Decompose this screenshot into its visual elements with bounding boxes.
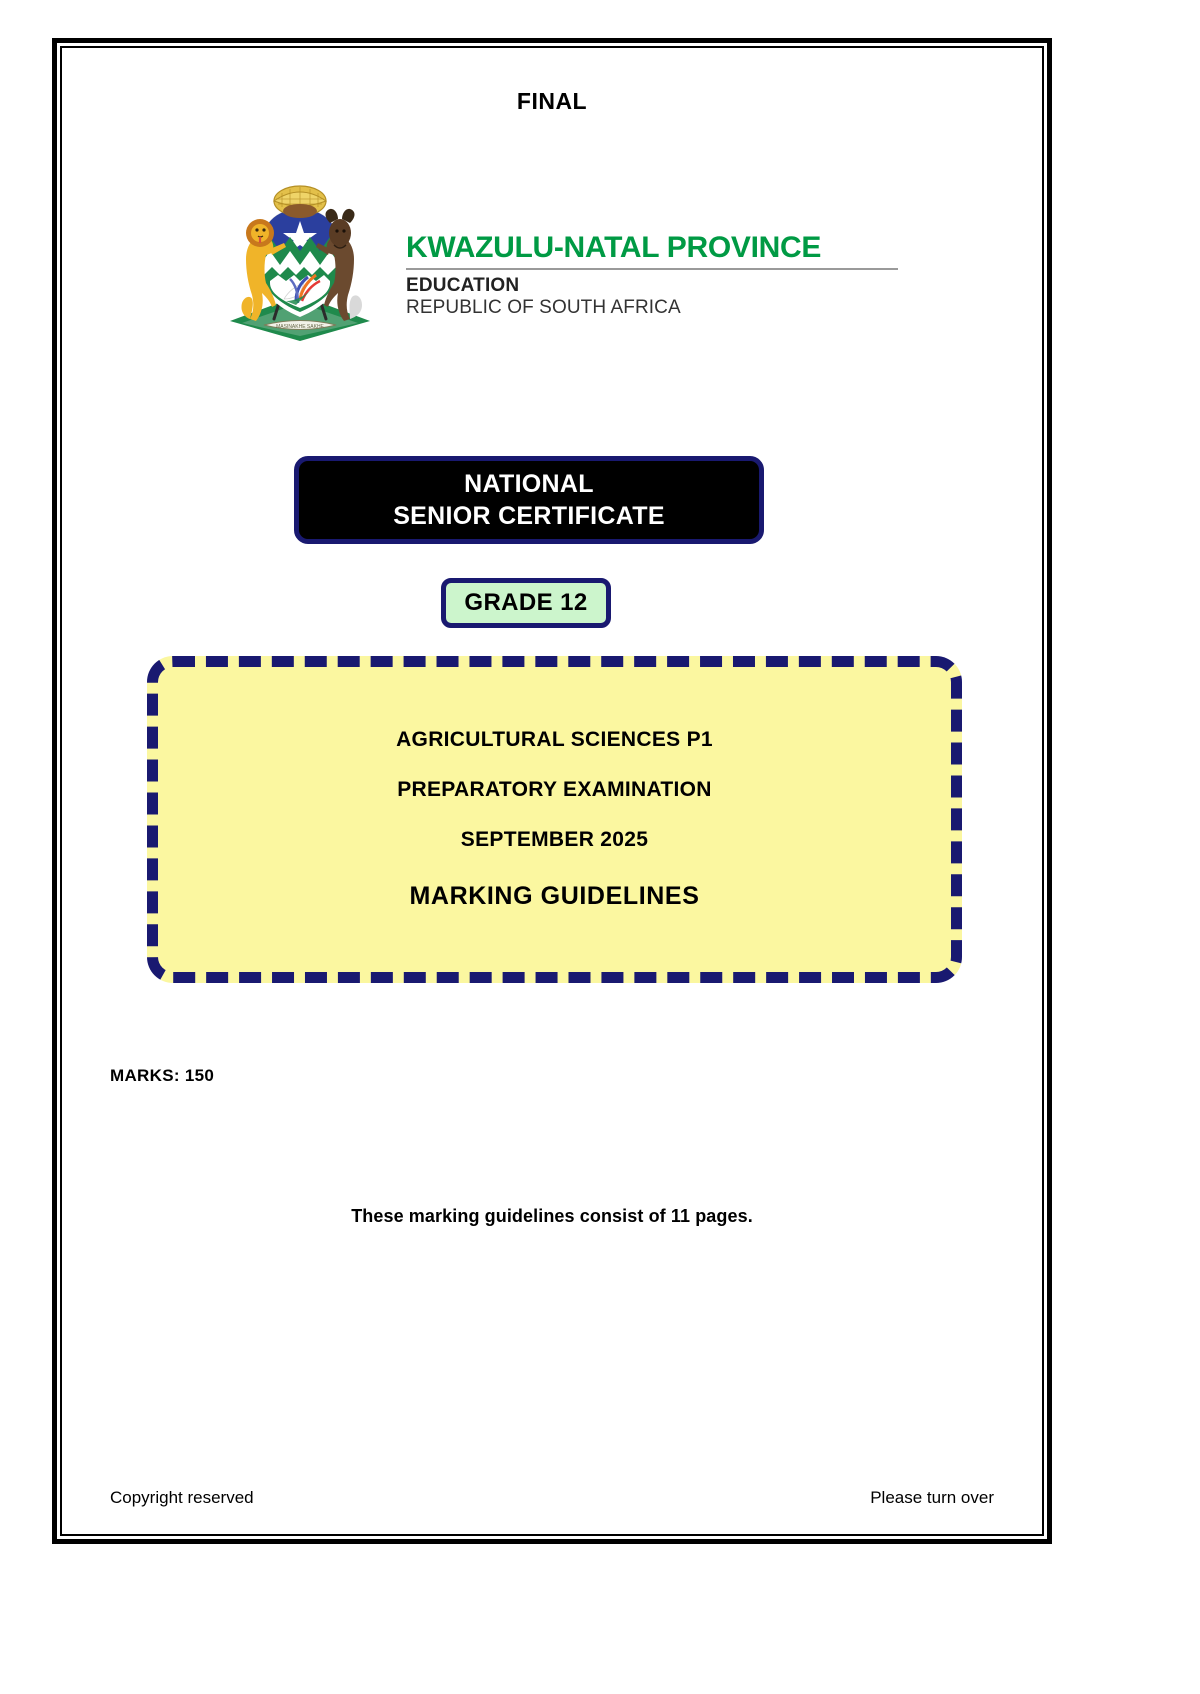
country-name: REPUBLIC OF SOUTH AFRICA [406,297,898,319]
province-name: KWAZULU-NATAL PROVINCE [406,232,898,264]
department-logo-block: MASINAKHE SAKHE [62,166,1042,351]
exam-date: SEPTEMBER 2025 [461,815,648,865]
grade-banner: GRADE 12 [441,578,611,628]
subject-paper: AGRICULTURAL SCIENCES P1 [396,715,713,765]
turn-over-notice: Please turn over [870,1488,994,1508]
document-status-label: FINAL [62,88,1042,115]
certificate-text: NATIONAL SENIOR CERTIFICATE [393,468,665,532]
grade-label: GRADE 12 [464,589,587,617]
document-type: MARKING GUIDELINES [410,865,700,924]
subject-details-box: AGRICULTURAL SCIENCES P1 PREPARATORY EXA… [147,656,962,983]
svg-text:MASINAKHE SAKHE: MASINAKHE SAKHE [276,324,324,330]
page-footer: Copyright reserved Please turn over [110,1488,994,1508]
logo-divider [406,268,898,270]
certificate-line-2: SENIOR CERTIFICATE [393,500,665,532]
logo-text-block: KWAZULU-NATAL PROVINCE EDUCATION REPUBLI… [406,198,898,318]
department-name: EDUCATION [406,275,898,297]
national-senior-certificate-banner: NATIONAL SENIOR CERTIFICATE [294,456,764,544]
certificate-line-1: NATIONAL [393,468,665,500]
copyright-notice: Copyright reserved [110,1488,254,1508]
total-marks: MARKS: 150 [110,1066,214,1086]
kwazulu-natal-coat-of-arms-icon: MASINAKHE SAKHE [212,171,388,347]
exam-type: PREPARATORY EXAMINATION [397,765,712,815]
page-content: FINAL MASINAKHE SAKHE [62,48,1042,1534]
exam-cover-page: FINAL MASINAKHE SAKHE [0,0,1200,1694]
page-count-note: These marking guidelines consist of 11 p… [62,1206,1042,1227]
